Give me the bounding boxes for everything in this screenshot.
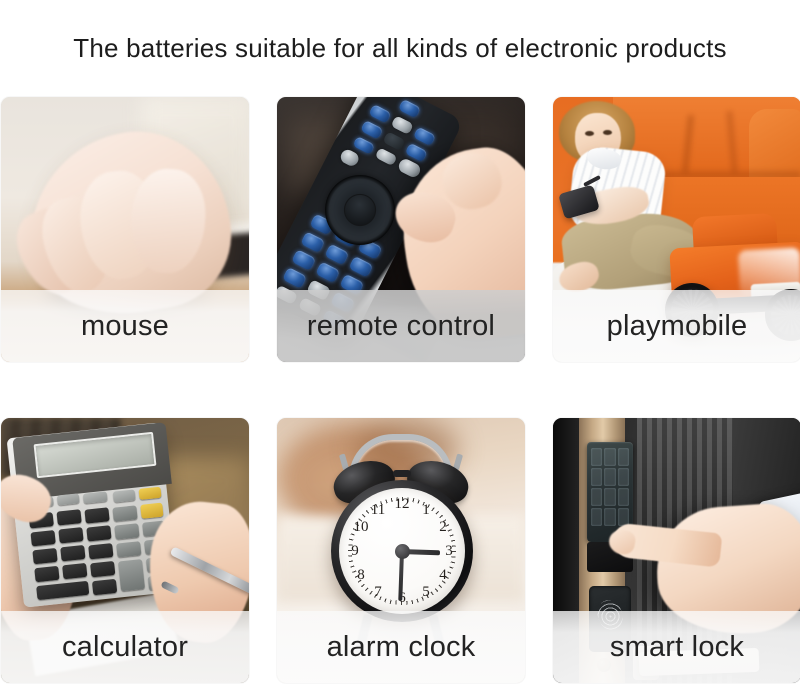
clock-numeral: 9 — [346, 542, 364, 560]
clock-center-pin — [395, 544, 410, 559]
child-eye-left — [585, 131, 594, 136]
clock-numeral: 4 — [434, 566, 452, 584]
use-case-card-remote-control[interactable]: remote control — [277, 97, 525, 362]
clock-numeral: 7 — [369, 583, 387, 601]
clock-numeral: 8 — [352, 566, 370, 584]
clock-numeral: 1 — [417, 501, 435, 519]
card-caption: remote control — [277, 290, 525, 362]
clock-numeral: 12 — [393, 495, 411, 513]
use-case-card-mouse[interactable]: mouse — [1, 97, 249, 362]
bell-hammer — [393, 470, 411, 477]
product-use-grid: mouse — [0, 97, 800, 698]
promo-page: The batteries suitable for all kinds of … — [0, 0, 800, 698]
keypad-key[interactable] — [618, 488, 629, 506]
keypad-key[interactable] — [591, 448, 602, 466]
child-eye-right — [603, 130, 612, 135]
clock-numeral: 2 — [434, 518, 452, 536]
keypad-key[interactable] — [618, 468, 629, 486]
keypad-key[interactable] — [604, 468, 615, 486]
card-caption: playmobile — [553, 290, 800, 362]
lock-keypad[interactable] — [591, 448, 629, 526]
card-caption: smart lock — [553, 611, 800, 683]
keypad-key[interactable] — [618, 448, 629, 466]
card-caption: alarm clock — [277, 611, 525, 683]
keypad-key[interactable] — [591, 508, 602, 526]
clock-numeral: 3 — [440, 542, 458, 560]
keypad-key[interactable] — [604, 448, 615, 466]
keypad-key[interactable] — [604, 508, 615, 526]
clock-numeral: 10 — [352, 518, 370, 536]
clock-numeral: 5 — [417, 583, 435, 601]
keypad-key[interactable] — [591, 488, 602, 506]
use-case-card-playmobile[interactable]: playmobile — [553, 97, 800, 362]
use-case-card-alarm-clock[interactable]: 12 1 2 3 4 5 6 7 8 9 10 11 alarm clock — [277, 418, 525, 683]
card-caption: calculator — [1, 611, 249, 683]
clock-numeral: 11 — [369, 501, 387, 519]
page-title: The batteries suitable for all kinds of … — [0, 0, 800, 97]
keypad-key[interactable] — [604, 488, 615, 506]
keypad-key[interactable] — [591, 468, 602, 486]
use-case-card-smart-lock[interactable]: smart lock — [553, 418, 800, 683]
card-caption: mouse — [1, 290, 249, 362]
use-case-card-calculator[interactable]: calculator — [1, 418, 249, 683]
